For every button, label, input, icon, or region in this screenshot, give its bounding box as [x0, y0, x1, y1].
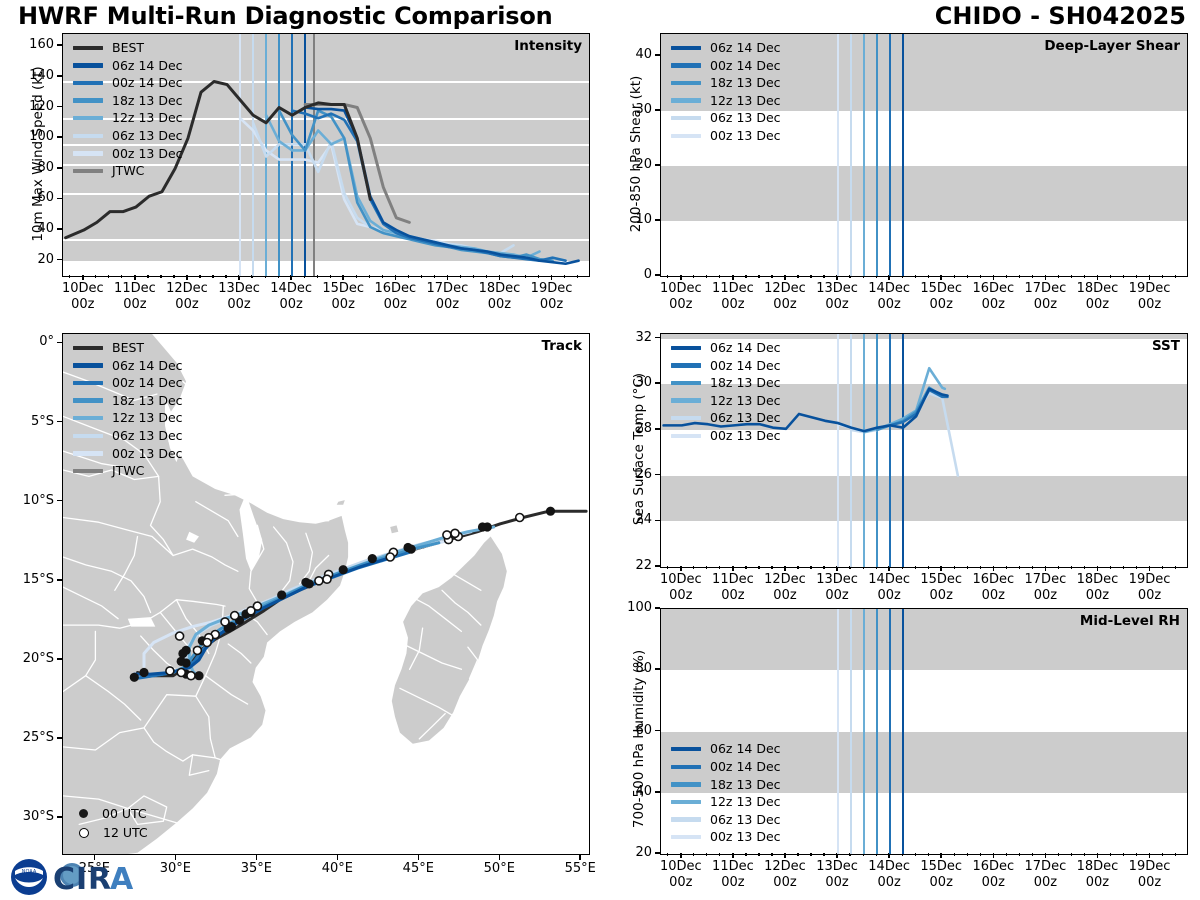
x-tick-hour: 00z — [825, 875, 848, 890]
y-tick-label: 160 — [2, 37, 54, 52]
shear-y-axis-label: 200-850 hPa Shear (kt) — [628, 44, 644, 264]
track-point-12utc — [231, 612, 239, 620]
x-tick-hour: 00z — [721, 588, 744, 603]
legend-color-swatch — [73, 63, 103, 68]
legend-item: 18z 13 Dec — [73, 92, 183, 110]
x-tick-date: 14Dec — [270, 281, 312, 296]
x-tick-label: 19Dec00z — [1117, 281, 1183, 313]
x-tick-hour: 00z — [1034, 297, 1057, 312]
legend-item-label: 18z 13 Dec — [112, 395, 183, 408]
legend-item: 18z 13 Dec — [671, 74, 781, 92]
legend-item-label: 18z 13 Dec — [112, 95, 183, 108]
y-tick-label: 20 — [600, 845, 652, 860]
x-tick-hour: 00z — [1086, 588, 1109, 603]
track-point-12utc — [247, 607, 255, 615]
x-tick-hour: 00z — [1034, 875, 1057, 890]
series-line — [292, 111, 565, 261]
x-tick-hour: 00z — [1086, 297, 1109, 312]
y-tick-mark — [57, 259, 62, 261]
legend-color-swatch — [671, 81, 701, 86]
lon-tick-label: 45°E — [385, 861, 451, 877]
y-tick-mark — [655, 520, 660, 522]
legend-color-swatch — [73, 416, 103, 421]
track-point-00utc — [339, 565, 348, 574]
x-tick-hour: 00z — [982, 875, 1005, 890]
x-tick-date: 11Dec — [712, 572, 754, 587]
track-point-00utc — [368, 554, 377, 563]
legend-item-label: 06z 14 Dec — [112, 60, 183, 73]
y-tick-mark — [57, 75, 62, 77]
legend-item: 00z 13 Dec — [671, 828, 781, 846]
x-tick-date: 16Dec — [972, 572, 1014, 587]
lon-tick-mark — [499, 855, 501, 860]
legend-color-swatch — [671, 46, 701, 51]
legend-item: 12z 13 Dec — [73, 109, 183, 127]
y-tick-mark — [655, 852, 660, 854]
legend-item: BEST — [73, 39, 183, 57]
y-tick-label: 26 — [600, 467, 652, 482]
y-tick-mark — [57, 136, 62, 138]
x-tick-label: 19Dec00z — [1117, 572, 1183, 604]
page-title: HWRF Multi-Run Diagnostic Comparison — [18, 2, 553, 30]
legend-color-swatch — [73, 469, 103, 474]
y-tick-label: 80 — [600, 661, 652, 676]
rh-y-axis-label: 700-500 hPa Humidity (%) — [631, 619, 647, 859]
track-point-12utc — [443, 531, 451, 539]
lat-tick-mark — [57, 342, 62, 344]
track-point-12utc — [386, 553, 394, 561]
y-tick-mark — [655, 54, 660, 56]
x-tick-date: 18Dec — [1077, 281, 1119, 296]
legend-color-swatch — [671, 134, 701, 139]
rh-panel: Mid-Level RH 06z 14 Dec00z 14 Dec18z 13 … — [660, 608, 1188, 855]
x-tick-date: 19Dec — [531, 281, 573, 296]
x-tick-hour: 00z — [1138, 875, 1161, 890]
lat-tick-mark — [57, 421, 62, 423]
x-tick-date: 19Dec — [1129, 859, 1171, 874]
legend-item: 06z 13 Dec — [671, 109, 781, 127]
lon-tick-label: 55°E — [547, 861, 613, 877]
y-tick-label: 100 — [2, 129, 54, 144]
legend-item: 18z 13 Dec — [671, 776, 781, 794]
legend-item: 00z 13 Dec — [73, 145, 183, 163]
x-tick-date: 14Dec — [868, 572, 910, 587]
x-tick-date: 19Dec — [1129, 572, 1171, 587]
track-panel: Track BEST06z 14 Dec00z 14 Dec18z 13 Dec… — [62, 333, 590, 855]
legend-item: 00z 14 Dec — [73, 374, 183, 392]
legend-color-swatch — [671, 98, 701, 103]
track-point-12utc — [203, 639, 211, 647]
track-point-00utc — [130, 673, 139, 682]
marker-legend-item: 12 UTC — [75, 823, 148, 842]
legend-color-swatch — [73, 169, 103, 174]
y-tick-label: 30 — [600, 102, 652, 117]
lat-tick-mark — [57, 737, 62, 739]
x-tick-hour: 00z — [384, 297, 407, 312]
legend-item: 00z 13 Dec — [73, 445, 183, 463]
track-point-12utc — [323, 575, 331, 583]
legend-color-swatch — [73, 46, 103, 51]
svg-text:R: R — [88, 862, 111, 897]
legend-item-label: JTWC — [112, 165, 144, 178]
legend-item: 06z 14 Dec — [73, 57, 183, 75]
x-tick-hour: 00z — [123, 297, 146, 312]
y-tick-mark — [655, 607, 660, 609]
track-point-12utc — [193, 646, 201, 654]
x-tick-date: 15Dec — [920, 859, 962, 874]
lon-tick-label: 50°E — [466, 861, 532, 877]
track-point-12utc — [451, 529, 459, 537]
cira-noaa-logo: NOAA C I R A — [8, 856, 158, 898]
x-tick-date: 12Dec — [764, 281, 806, 296]
y-tick-mark — [655, 274, 660, 276]
y-tick-label: 10 — [600, 212, 652, 227]
lat-tick-label: 30°S — [2, 809, 54, 824]
legend-item-label: BEST — [112, 342, 144, 355]
y-tick-label: 0 — [600, 267, 652, 282]
legend-item-label: 06z 13 Dec — [710, 814, 781, 827]
x-tick-hour: 00z — [175, 297, 198, 312]
legend-item-label: 12z 13 Dec — [112, 112, 183, 125]
x-tick-hour: 00z — [982, 297, 1005, 312]
x-tick-date: 11Dec — [114, 281, 156, 296]
y-tick-label: 40 — [600, 784, 652, 799]
x-tick-hour: 00z — [721, 297, 744, 312]
legend-item: 06z 14 Dec — [671, 339, 781, 357]
svg-text:I: I — [76, 862, 87, 897]
track-legend: BEST06z 14 Dec00z 14 Dec18z 13 Dec12z 13… — [73, 339, 183, 480]
lat-tick-label: 0° — [2, 334, 54, 349]
legend-color-swatch — [73, 363, 103, 368]
legend-item-label: 18z 13 Dec — [710, 77, 781, 90]
legend-item-label: 00z 13 Dec — [112, 148, 183, 161]
filled-circle-icon — [79, 809, 88, 818]
x-tick-hour: 00z — [279, 297, 302, 312]
legend-color-swatch — [671, 800, 701, 805]
legend-color-swatch — [671, 817, 701, 822]
x-tick-date: 15Dec — [920, 281, 962, 296]
series-line — [305, 108, 578, 264]
y-tick-label: 100 — [600, 600, 652, 615]
x-tick-hour: 00z — [877, 297, 900, 312]
legend-item-label: 12z 13 Dec — [710, 395, 781, 408]
y-tick-mark — [57, 198, 62, 200]
track-point-12utc — [221, 618, 229, 626]
track-point-12utc — [516, 514, 524, 522]
x-tick-hour: 00z — [825, 588, 848, 603]
legend-item: 06z 14 Dec — [73, 357, 183, 375]
y-tick-mark — [655, 219, 660, 221]
legend-item-label: 12z 13 Dec — [710, 796, 781, 809]
noaa-seal-icon: NOAA — [11, 859, 47, 895]
rh-panel-title: Mid-Level RH — [1080, 613, 1180, 629]
legend-item-label: 18z 13 Dec — [710, 779, 781, 792]
x-tick-date: 10Dec — [660, 859, 702, 874]
lat-tick-mark — [57, 658, 62, 660]
legend-item: 00z 14 Dec — [73, 74, 183, 92]
legend-color-swatch — [671, 363, 701, 368]
legend-item: 18z 13 Dec — [73, 392, 183, 410]
x-tick-hour: 00z — [721, 875, 744, 890]
legend-item: 06z 14 Dec — [671, 740, 781, 758]
legend-item-label: 00z 13 Dec — [112, 448, 183, 461]
sst-panel-title: SST — [1152, 338, 1180, 354]
legend-item: 12z 13 Dec — [671, 793, 781, 811]
legend-color-swatch — [73, 151, 103, 156]
lat-tick-label: 20°S — [2, 651, 54, 666]
x-tick-hour: 00z — [1138, 297, 1161, 312]
x-tick-hour: 00z — [773, 297, 796, 312]
x-tick-date: 10Dec — [660, 281, 702, 296]
x-tick-label: 19Dec00z — [519, 281, 585, 313]
y-tick-label: 22 — [600, 558, 652, 573]
figure-root: HWRF Multi-Run Diagnostic Comparison CHI… — [0, 0, 1200, 900]
legend-item-label: 06z 14 Dec — [710, 342, 781, 355]
y-tick-label: 60 — [2, 190, 54, 205]
x-tick-date: 13Dec — [816, 572, 858, 587]
x-tick-hour: 00z — [930, 297, 953, 312]
legend-color-swatch — [671, 747, 701, 752]
x-tick-date: 16Dec — [972, 859, 1014, 874]
legend-item: 06z 13 Dec — [671, 811, 781, 829]
y-tick-mark — [655, 109, 660, 111]
legend-item: 12z 13 Dec — [671, 92, 781, 110]
lat-tick-label: 25°S — [2, 730, 54, 745]
x-tick-hour: 00z — [982, 588, 1005, 603]
open-circle-icon — [79, 828, 89, 838]
y-tick-label: 140 — [2, 68, 54, 83]
x-tick-hour: 00z — [773, 588, 796, 603]
track-point-12utc — [177, 669, 185, 677]
x-tick-date: 12Dec — [166, 281, 208, 296]
svg-text:C: C — [53, 862, 75, 897]
y-tick-mark — [655, 668, 660, 670]
x-tick-hour: 00z — [669, 875, 692, 890]
y-tick-mark — [57, 106, 62, 108]
legend-color-swatch — [671, 398, 701, 403]
lon-tick-mark — [418, 855, 420, 860]
x-tick-hour: 00z — [540, 297, 563, 312]
legend-color-swatch — [73, 116, 103, 121]
track-point-00utc — [403, 543, 412, 552]
legend-item-label: 06z 14 Dec — [710, 42, 781, 55]
x-tick-hour: 00z — [877, 875, 900, 890]
x-tick-date: 13Dec — [816, 859, 858, 874]
lon-tick-label: 40°E — [304, 861, 370, 877]
legend-color-swatch — [73, 98, 103, 103]
legend-color-swatch — [73, 81, 103, 86]
intensity-panel-title: Intensity — [514, 38, 582, 54]
x-tick-date: 12Dec — [764, 572, 806, 587]
x-tick-hour: 00z — [669, 297, 692, 312]
x-tick-date: 12Dec — [764, 859, 806, 874]
y-tick-mark — [57, 167, 62, 169]
legend-color-swatch — [73, 346, 103, 351]
legend-color-swatch — [73, 434, 103, 439]
legend-color-swatch — [73, 134, 103, 139]
legend-item: 06z 14 Dec — [671, 39, 781, 57]
lon-tick-mark — [579, 855, 581, 860]
sst-panel: SST 06z 14 Dec00z 14 Dec18z 13 Dec12z 13… — [660, 333, 1188, 568]
intensity-legend: BEST06z 14 Dec00z 14 Dec18z 13 Dec12z 13… — [73, 39, 183, 180]
x-tick-date: 18Dec — [1077, 572, 1119, 587]
legend-item: 00z 13 Dec — [671, 127, 781, 145]
x-tick-date: 17Dec — [1025, 281, 1067, 296]
legend-item-label: BEST — [112, 42, 144, 55]
track-point-00utc — [182, 658, 191, 667]
x-tick-hour: 00z — [930, 875, 953, 890]
marker-legend-label: 12 UTC — [103, 825, 148, 840]
legend-color-swatch — [671, 835, 701, 840]
legend-item-label: JTWC — [112, 465, 144, 478]
y-tick-label: 20 — [2, 252, 54, 267]
y-tick-label: 40 — [600, 47, 652, 62]
series-line — [851, 393, 958, 475]
y-tick-mark — [655, 791, 660, 793]
legend-item-label: 00z 14 Dec — [112, 377, 183, 390]
legend-item-label: 00z 14 Dec — [710, 761, 781, 774]
legend-item: 12z 13 Dec — [73, 409, 183, 427]
y-tick-label: 28 — [600, 421, 652, 436]
x-tick-date: 13Dec — [816, 281, 858, 296]
legend-item-label: 06z 13 Dec — [710, 412, 781, 425]
y-tick-label: 24 — [600, 512, 652, 527]
legend-item-label: 00z 14 Dec — [710, 60, 781, 73]
y-tick-label: 30 — [600, 375, 652, 390]
track-point-00utc — [301, 578, 310, 587]
intensity-panel: Intensity BEST06z 14 Dec00z 14 Dec18z 13… — [62, 33, 590, 277]
sst-legend: 06z 14 Dec00z 14 Dec18z 13 Dec12z 13 Dec… — [671, 339, 781, 445]
y-tick-mark — [57, 228, 62, 230]
legend-item-label: 12z 13 Dec — [112, 412, 183, 425]
track-point-00utc — [478, 522, 487, 531]
shear-legend: 06z 14 Dec00z 14 Dec18z 13 Dec12z 13 Dec… — [671, 39, 781, 145]
x-tick-hour: 00z — [669, 588, 692, 603]
y-tick-mark — [655, 730, 660, 732]
legend-item-label: 06z 13 Dec — [710, 112, 781, 125]
y-tick-mark — [655, 382, 660, 384]
y-tick-mark — [655, 337, 660, 339]
y-tick-mark — [655, 565, 660, 567]
y-tick-mark — [655, 474, 660, 476]
lon-tick-mark — [256, 855, 258, 860]
y-tick-label: 120 — [2, 99, 54, 114]
legend-item-label: 06z 14 Dec — [710, 743, 781, 756]
y-tick-mark — [655, 428, 660, 430]
shear-panel-title: Deep-Layer Shear — [1044, 38, 1180, 54]
shear-panel: Deep-Layer Shear 06z 14 Dec00z 14 Dec18z… — [660, 33, 1188, 277]
lat-tick-label: 10°S — [2, 493, 54, 508]
x-tick-hour: 00z — [877, 588, 900, 603]
track-point-00utc — [277, 590, 286, 599]
x-tick-date: 17Dec — [427, 281, 469, 296]
legend-item: JTWC — [73, 462, 183, 480]
x-tick-date: 15Dec — [322, 281, 364, 296]
lon-tick-mark — [175, 855, 177, 860]
y-tick-label: 40 — [2, 221, 54, 236]
rh-legend: 06z 14 Dec00z 14 Dec18z 13 Dec12z 13 Dec… — [671, 740, 781, 846]
y-tick-label: 60 — [600, 723, 652, 738]
legend-item-label: 06z 13 Dec — [112, 430, 183, 443]
x-tick-date: 15Dec — [920, 572, 962, 587]
y-tick-label: 80 — [2, 160, 54, 175]
y-tick-mark — [57, 44, 62, 46]
legend-item: JTWC — [73, 162, 183, 180]
legend-color-swatch — [671, 434, 701, 439]
legend-item: 00z 14 Dec — [671, 758, 781, 776]
x-tick-date: 10Dec — [660, 572, 702, 587]
legend-item-label: 06z 13 Dec — [112, 130, 183, 143]
legend-item: 06z 13 Dec — [671, 409, 781, 427]
legend-item-label: 06z 14 Dec — [112, 360, 183, 373]
legend-color-swatch — [671, 765, 701, 770]
legend-color-swatch — [73, 381, 103, 386]
x-tick-date: 10Dec — [62, 281, 104, 296]
legend-item: 00z 14 Dec — [671, 357, 781, 375]
x-tick-hour: 00z — [1034, 588, 1057, 603]
x-tick-hour: 00z — [227, 297, 250, 312]
x-tick-hour: 00z — [1138, 588, 1161, 603]
legend-color-swatch — [671, 782, 701, 787]
legend-item: 06z 13 Dec — [73, 127, 183, 145]
legend-item-label: 00z 14 Dec — [710, 360, 781, 373]
lat-tick-mark — [57, 500, 62, 502]
track-point-00utc — [546, 507, 555, 516]
legend-item-label: 18z 13 Dec — [710, 377, 781, 390]
x-tick-date: 17Dec — [1025, 572, 1067, 587]
x-tick-hour: 00z — [488, 297, 511, 312]
x-tick-date: 13Dec — [218, 281, 260, 296]
svg-text:NOAA: NOAA — [22, 869, 37, 875]
legend-item: 18z 13 Dec — [671, 374, 781, 392]
lat-tick-label: 5°S — [2, 414, 54, 429]
legend-color-swatch — [671, 346, 701, 351]
legend-color-swatch — [671, 116, 701, 121]
lon-tick-label: 35°E — [223, 861, 289, 877]
marker-legend-label: 00 UTC — [102, 806, 147, 821]
legend-color-swatch — [671, 63, 701, 68]
lat-tick-mark — [57, 579, 62, 581]
legend-color-swatch — [73, 451, 103, 456]
legend-item-label: 00z 14 Dec — [112, 77, 183, 90]
x-tick-hour: 00z — [773, 875, 796, 890]
x-tick-hour: 00z — [825, 297, 848, 312]
x-tick-hour: 00z — [436, 297, 459, 312]
lon-tick-mark — [337, 855, 339, 860]
x-tick-date: 18Dec — [1077, 859, 1119, 874]
marker-legend-item: 00 UTC — [75, 804, 148, 823]
track-point-12utc — [187, 672, 195, 680]
track-marker-legend: 00 UTC12 UTC — [75, 804, 148, 842]
x-tick-date: 17Dec — [1025, 859, 1067, 874]
legend-item: 00z 14 Dec — [671, 57, 781, 75]
x-tick-hour: 00z — [332, 297, 355, 312]
lat-tick-label: 15°S — [2, 572, 54, 587]
legend-color-swatch — [73, 398, 103, 403]
x-tick-date: 19Dec — [1129, 281, 1171, 296]
storm-id-title: CHIDO - SH042025 — [935, 2, 1186, 30]
y-tick-mark — [655, 164, 660, 166]
x-tick-date: 14Dec — [868, 281, 910, 296]
x-tick-hour: 00z — [1086, 875, 1109, 890]
legend-item-label: 00z 13 Dec — [710, 430, 781, 443]
legend-color-swatch — [671, 381, 701, 386]
legend-item: 06z 13 Dec — [73, 427, 183, 445]
track-point-12utc — [176, 632, 184, 640]
track-point-12utc — [166, 667, 174, 675]
y-tick-label: 20 — [600, 157, 652, 172]
x-tick-date: 11Dec — [712, 859, 754, 874]
